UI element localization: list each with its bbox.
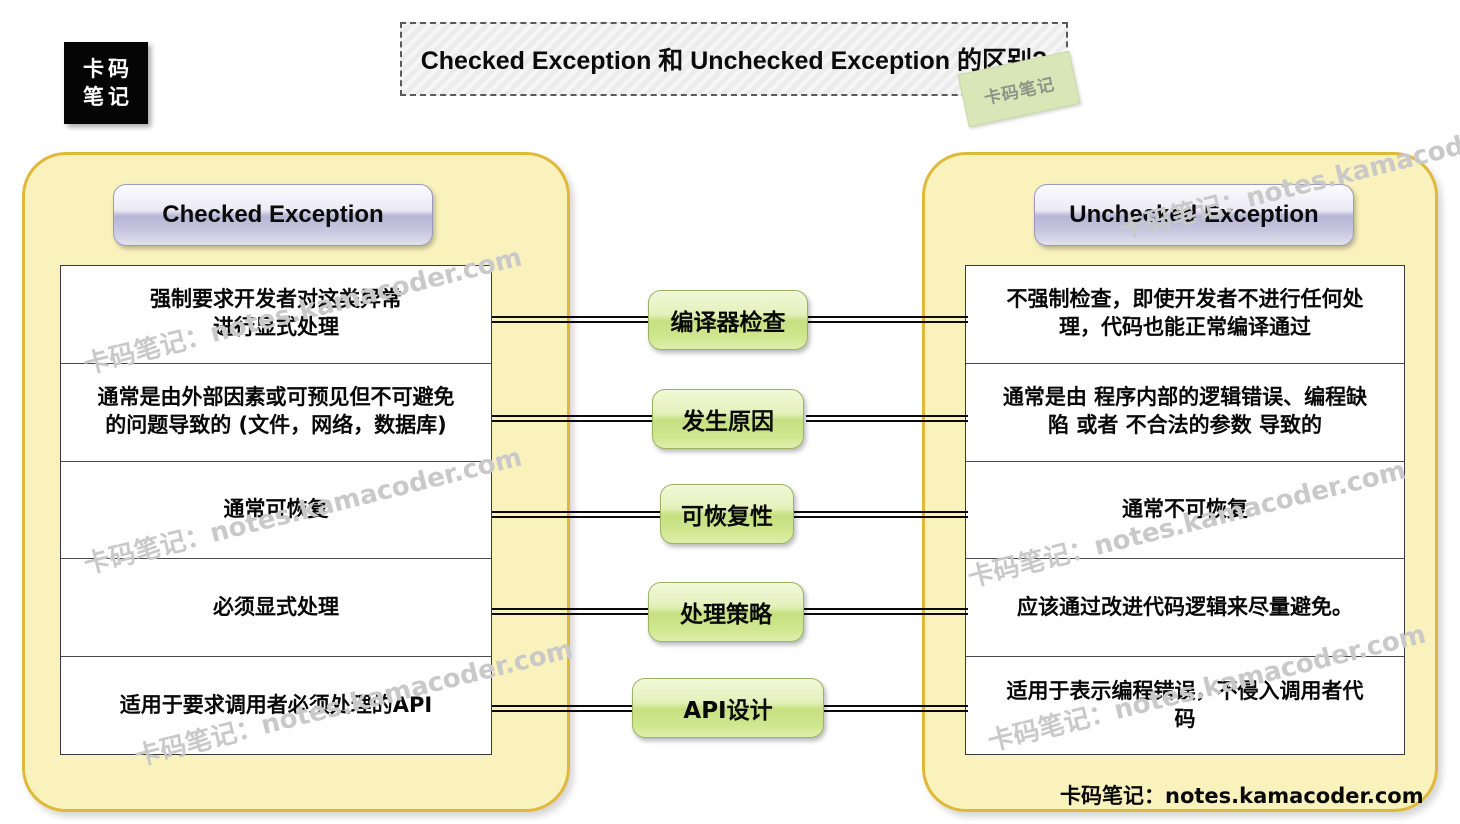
connector-right-5: [820, 705, 968, 712]
brand-logo: 卡码 笔记: [64, 42, 148, 124]
table-checked-exception: 强制要求开发者对这类异常进行显式处理 通常是由外部因素或可预见但不可避免的问题导…: [60, 265, 492, 755]
footer-credit: 卡码笔记：notes.kamacoder.com: [1060, 780, 1424, 810]
table-unchecked-exception: 不强制检查，即使开发者不进行任何处理，代码也能正常编译通过 通常是由 程序内部的…: [965, 265, 1405, 755]
criterion-label-4: 处理策略: [680, 595, 772, 629]
table-row: 不强制检查，即使开发者不进行任何处理，代码也能正常编译通过: [966, 266, 1404, 364]
brand-logo-line-2: 笔记: [79, 83, 133, 111]
table-row: 通常可恢复: [61, 462, 491, 560]
connector-right-4: [800, 608, 968, 615]
criterion-label-1: 编译器检查: [671, 303, 786, 337]
table-row: 强制要求开发者对这类异常进行显式处理: [61, 266, 491, 364]
connector-right-1: [806, 316, 968, 323]
cell-left-3: 通常可恢复: [224, 496, 329, 524]
diagram-canvas: 卡码 笔记 Checked Exception 和 Unchecked Exce…: [0, 0, 1460, 824]
cell-right-5: 适用于表示编程错误，不侵入调用者代码: [1007, 678, 1364, 734]
table-row: 适用于表示编程错误，不侵入调用者代码: [966, 657, 1404, 754]
diagram-title: Checked Exception 和 Unchecked Exception …: [421, 41, 1048, 77]
criterion-label-5: API设计: [683, 691, 772, 725]
criterion-handling-strategy[interactable]: 处理策略: [648, 582, 804, 642]
cell-left-1: 强制要求开发者对这类异常进行显式处理: [150, 286, 402, 342]
cell-left-2: 通常是由外部因素或可预见但不可避免的问题导致的 (文件，网络，数据库): [98, 384, 455, 440]
sticky-note-label: 卡码笔记: [981, 69, 1057, 108]
header-checked-exception-label: Checked Exception: [162, 201, 383, 229]
criterion-cause[interactable]: 发生原因: [652, 389, 804, 449]
cell-right-1: 不强制检查，即使开发者不进行任何处理，代码也能正常编译通过: [1007, 286, 1364, 342]
table-row: 应该通过改进代码逻辑来尽量避免。: [966, 559, 1404, 657]
connector-left-1: [492, 316, 658, 323]
header-unchecked-exception-label: Unchecked Exception: [1069, 201, 1318, 229]
cell-right-4: 应该通过改进代码逻辑来尽量避免。: [1017, 594, 1353, 622]
table-row: 通常是由 程序内部的逻辑错误、编程缺陷 或者 不合法的参数 导致的: [966, 364, 1404, 462]
table-row: 必须显式处理: [61, 559, 491, 657]
connector-right-2: [806, 415, 968, 422]
criterion-api-design[interactable]: API设计: [632, 678, 824, 738]
cell-left-4: 必须显式处理: [213, 594, 339, 622]
header-checked-exception[interactable]: Checked Exception: [113, 184, 433, 246]
cell-left-5: 适用于要求调用者必须处理的API: [120, 692, 432, 720]
connector-left-3: [492, 511, 666, 518]
criterion-recoverability[interactable]: 可恢复性: [660, 484, 794, 544]
header-unchecked-exception[interactable]: Unchecked Exception: [1034, 184, 1354, 246]
criterion-compiler-check[interactable]: 编译器检查: [648, 290, 808, 350]
criterion-label-3: 可恢复性: [681, 497, 773, 531]
connector-left-5: [492, 705, 638, 712]
brand-logo-line-1: 卡码: [79, 55, 133, 83]
criterion-label-2: 发生原因: [682, 402, 774, 436]
table-row: 通常是由外部因素或可预见但不可避免的问题导致的 (文件，网络，数据库): [61, 364, 491, 462]
cell-right-3: 通常不可恢复: [1122, 496, 1248, 524]
connector-left-4: [492, 608, 652, 615]
cell-right-2: 通常是由 程序内部的逻辑错误、编程缺陷 或者 不合法的参数 导致的: [1003, 384, 1367, 440]
table-row: 通常不可恢复: [966, 462, 1404, 560]
connector-left-2: [492, 415, 658, 422]
table-row: 适用于要求调用者必须处理的API: [61, 657, 491, 754]
connector-right-3: [790, 511, 968, 518]
